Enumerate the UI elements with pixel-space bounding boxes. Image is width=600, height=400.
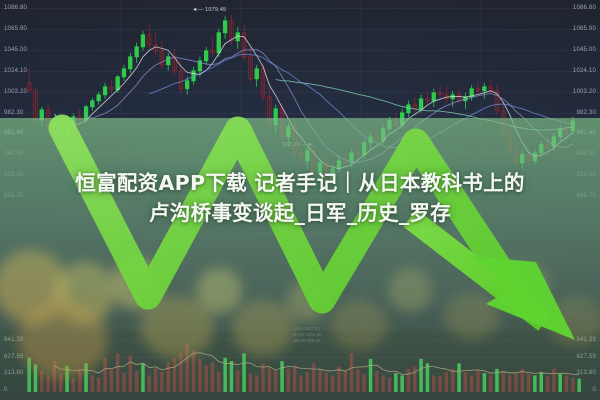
- page-title-line-1: 恒富配资APP下载 记者手记｜从日本教科书上的: [0, 168, 600, 198]
- page-title: 恒富配资APP下载 记者手记｜从日本教科书上的 卢沟桥事变谈起_日军_历史_罗存: [0, 168, 600, 229]
- page-title-line-2: 卢沟桥事变谈起_日军_历史_罗存: [0, 198, 600, 228]
- trading-chart-banner: 1086.801065.901045.001024.101003.20982.3…: [0, 0, 600, 400]
